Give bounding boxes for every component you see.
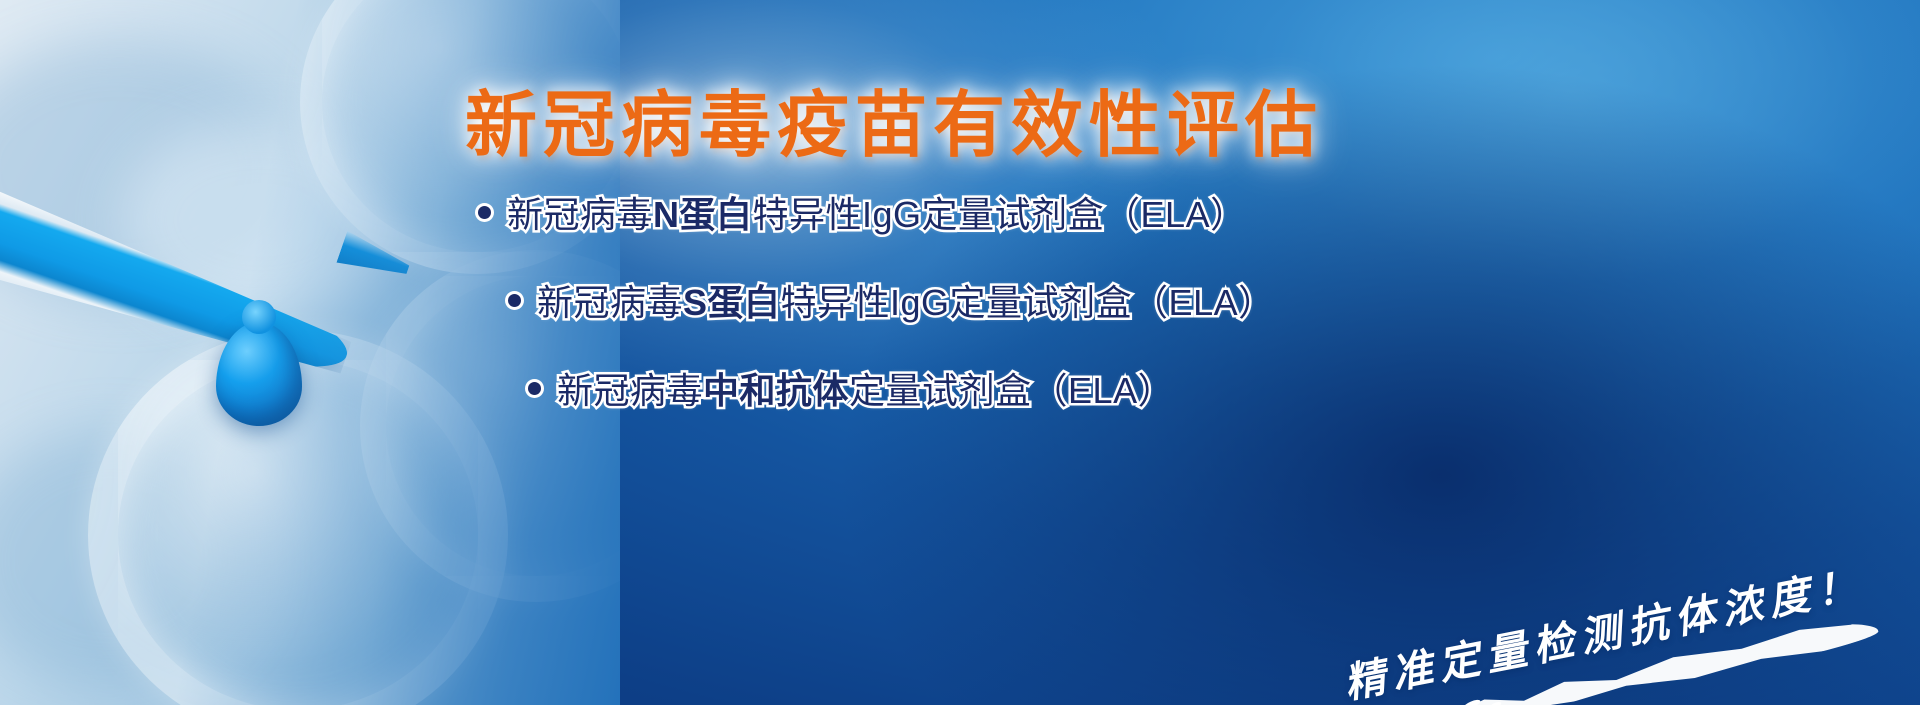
list-item-tail: 特异性IgG定量试剂盒（ELA） — [781, 282, 1275, 323]
list-item-tail: 定量试剂盒（ELA） — [849, 370, 1174, 411]
list-item-emphasis: S蛋白 — [683, 282, 781, 323]
list-item-label: 新冠病毒N蛋白特异性IgG定量试剂盒（ELA） — [507, 186, 1247, 238]
list-item-lead: 新冠病毒 — [537, 282, 683, 323]
bullet-dot-icon — [478, 206, 491, 219]
list-item: 新冠病毒S蛋白特异性IgG定量试剂盒（ELA） — [0, 274, 1920, 326]
list-item: 新冠病毒N蛋白特异性IgG定量试剂盒（ELA） — [0, 186, 1920, 238]
page-title: 新冠病毒疫苗有效性评估 — [465, 66, 1365, 171]
slogan-group: 精准定量检测抗体浓度！ — [1338, 550, 1868, 705]
list-item-lead: 新冠病毒 — [557, 370, 703, 411]
promo-banner: 新冠病毒疫苗有效性评估 新冠病毒N蛋白特异性IgG定量试剂盒（ELA） 新冠病毒… — [0, 0, 1920, 705]
list-item-emphasis: 中和抗体 — [703, 370, 849, 411]
brush-splatter-icon — [1423, 693, 1514, 705]
list-item: 新冠病毒中和抗体定量试剂盒（ELA） — [0, 362, 1920, 414]
bullet-dot-icon — [508, 294, 521, 307]
list-item-emphasis: N蛋白 — [653, 194, 753, 235]
list-item-label: 新冠病毒S蛋白特异性IgG定量试剂盒（ELA） — [537, 274, 1275, 326]
list-item-tail: 特异性IgG定量试剂盒（ELA） — [753, 194, 1247, 235]
bullet-dot-icon — [528, 382, 541, 395]
photo-blur-shape — [0, 430, 260, 690]
list-item-label: 新冠病毒中和抗体定量试剂盒（ELA） — [557, 362, 1174, 414]
product-list: 新冠病毒N蛋白特异性IgG定量试剂盒（ELA） 新冠病毒S蛋白特异性IgG定量试… — [0, 186, 1920, 450]
list-item-lead: 新冠病毒 — [507, 194, 653, 235]
